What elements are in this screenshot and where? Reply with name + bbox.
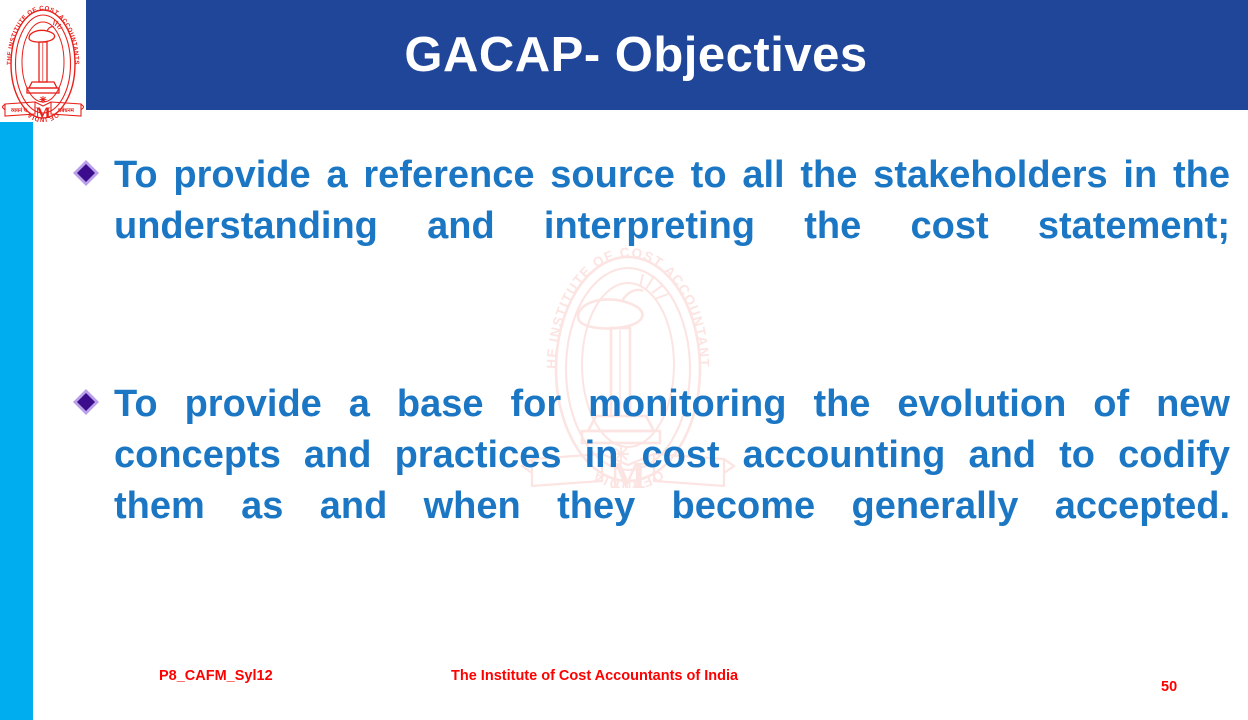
list-item: To provide a reference source to all the… — [70, 150, 1230, 303]
svg-text:प्रबंधनम: प्रबंधनम — [57, 107, 74, 114]
footer-institute-name: The Institute of Cost Accountants of Ind… — [451, 668, 738, 684]
page-number: 50 — [1161, 679, 1177, 695]
list-item: To provide a base for monitoring the evo… — [70, 379, 1230, 583]
diamond-bullet-icon — [72, 159, 100, 187]
list-item-label: To provide a base for monitoring the evo… — [114, 379, 1230, 583]
svg-text:M: M — [35, 105, 50, 122]
page-title: GACAP- Objectives — [86, 0, 1186, 110]
svg-text:व्ययनं च: व्ययनं च — [10, 107, 28, 114]
institute-logo: THE INSTITUTE OF COST ACCOUNTANTS OF IND… — [2, 2, 84, 122]
left-accent-strip — [0, 122, 33, 720]
bullet-list: To provide a reference source to all the… — [70, 150, 1230, 610]
list-item-label: To provide a reference source to all the… — [114, 150, 1230, 303]
diamond-bullet-icon — [72, 388, 100, 416]
footer-subject-code: P8_CAFM_Syl12 — [159, 668, 273, 684]
slide-canvas: THE INSTITUTE OF COST ACCOUNTANTS OF IND… — [0, 0, 1248, 720]
